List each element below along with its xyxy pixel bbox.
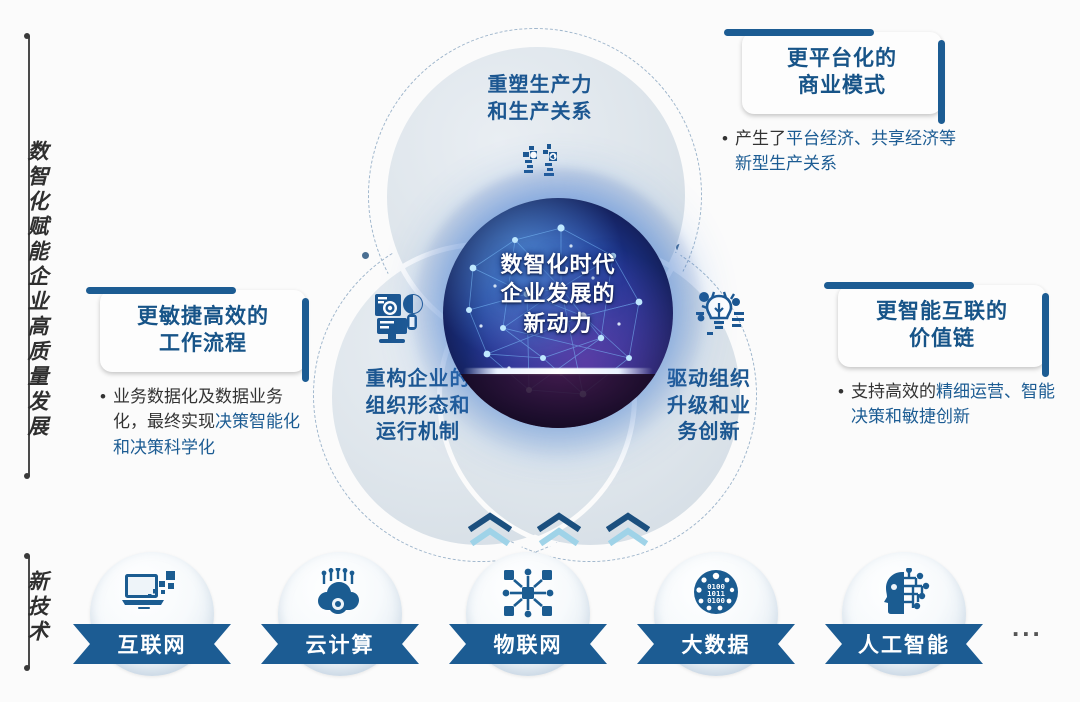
tech-item-iot[interactable]: 物联网	[466, 552, 590, 676]
bracket-right-accent	[938, 40, 945, 124]
callout-platform-business-model: 更平台化的 商业模式 • 产生了平台经济、共享经济等新型生产关系	[722, 32, 972, 177]
bracket-top-accent	[824, 282, 974, 289]
tech-ribbon: 人工智能	[825, 624, 983, 664]
bracket-top-accent	[724, 29, 874, 36]
bullet-dot: •	[838, 379, 844, 405]
tech-item-ai[interactable]: 人工智能	[842, 552, 966, 676]
iot-nodes-icon	[466, 568, 590, 623]
callout-intelligent-value-chain: 更智能互联的 价值链 • 支持高效的精细运营、智能决策和敏捷创新	[838, 285, 1063, 430]
tech-label: 云计算	[306, 629, 375, 659]
callout-box: 更智能互联的 价值链	[838, 285, 1046, 367]
infographic-canvas: 数智化赋能企业高质量发展 新技术 重塑生产力 和生产关系 重构企业的 组织形态和…	[0, 0, 1080, 702]
laptop-network-icon	[90, 568, 214, 619]
ring-dot-left	[362, 252, 369, 259]
tech-item-internet[interactable]: 互联网	[90, 552, 214, 676]
callout-bullet: • 产生了平台经济、共享经济等新型生产关系	[722, 126, 972, 177]
tech-label: 大数据	[682, 629, 751, 659]
callout-bullet-text: 业务数据化及数据业务化，最终实现决策智能化和决策科学化	[113, 384, 315, 461]
ai-brain-icon	[842, 568, 966, 623]
callout-title: 更平台化的 商业模式	[756, 45, 928, 100]
bullet-dot: •	[722, 126, 728, 152]
cloud-gear-icon	[278, 568, 402, 621]
tech-item-cloud-computing[interactable]: 云计算	[278, 552, 402, 676]
callout-bullet: • 支持高效的精细运营、智能决策和敏捷创新	[838, 379, 1063, 430]
callout-bullet-text: 支持高效的精细运营、智能决策和敏捷创新	[851, 379, 1063, 430]
tech-label: 互联网	[118, 629, 187, 659]
callout-bullet-text: 产生了平台经济、共享经济等新型生产关系	[735, 126, 972, 177]
callout-agile-workflow: 更敏捷高效的 工作流程 • 业务数据化及数据业务化，最终实现决策智能化和决策科学…	[100, 290, 315, 460]
chevron-up-group-2	[537, 512, 581, 551]
chevron-up-group-3	[606, 512, 650, 551]
axis-dot-mid	[24, 473, 30, 479]
bracket-right-accent	[1042, 293, 1049, 377]
axis-dot-top	[24, 33, 30, 39]
tech-ribbon: 物联网	[449, 624, 607, 664]
callout-box: 更平台化的 商业模式	[742, 32, 942, 114]
vertical-label-main-theme: 数智化赋能企业高质量发展	[6, 140, 52, 440]
big-data-circle-icon: 0100 1011 0100	[654, 568, 778, 621]
tech-label: 人工智能	[858, 629, 950, 659]
chevron-up-group-1	[468, 512, 512, 551]
tech-ribbon: 云计算	[261, 624, 419, 664]
callout-title: 更敏捷高效的 工作流程	[114, 303, 292, 358]
tech-ribbon: 大数据	[637, 624, 795, 664]
callout-title: 更智能互联的 价值链	[852, 298, 1032, 353]
bullet-dot: •	[100, 384, 106, 410]
svg-text:0100: 0100	[707, 596, 725, 605]
tech-ribbon: 互联网	[73, 624, 231, 664]
tech-label: 物联网	[494, 629, 563, 659]
bracket-right-accent	[302, 298, 309, 382]
callout-box: 更敏捷高效的 工作流程	[100, 290, 306, 372]
tech-item-big-data[interactable]: 0100 1011 0100 大数据	[654, 552, 778, 676]
circle-top-label: 重塑生产力 和生产关系	[440, 72, 640, 125]
center-label: 数智化时代 企业发展的 新动力	[438, 250, 678, 338]
technology-row: 互联网	[0, 552, 1080, 676]
ellipsis-more: ...	[1012, 612, 1043, 643]
bracket-top-accent	[86, 287, 236, 294]
callout-bullet: • 业务数据化及数据业务化，最终实现决策智能化和决策科学化	[100, 384, 315, 461]
